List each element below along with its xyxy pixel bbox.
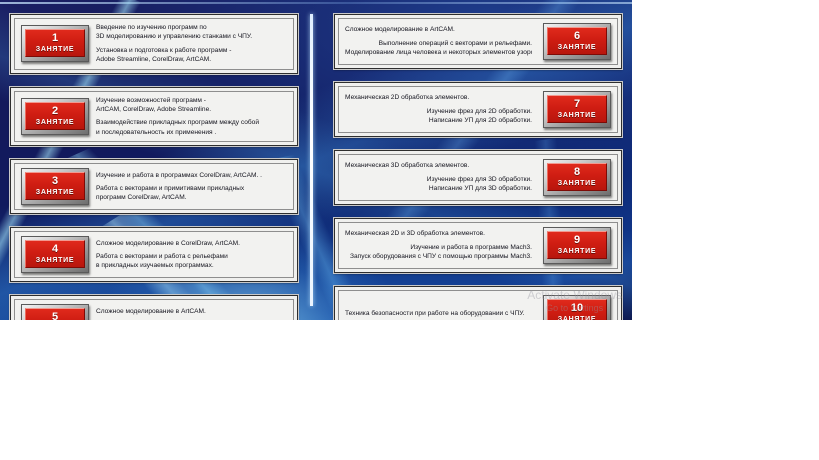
- lesson-card[interactable]: 5ЗАНЯТИЕСложное моделирование в ArtCAM.В…: [10, 295, 298, 320]
- lesson-button-face: 10ЗАНЯТИЕ: [547, 299, 607, 320]
- lesson-description-line: Изучение фрез для 3D обработки.: [345, 175, 532, 184]
- lesson-description: Сложное моделирование в ArtCAM.Выполнени…: [345, 25, 536, 57]
- lesson-description-line: Изучение фрез для 2D обработки.: [345, 107, 532, 116]
- lesson-number-button[interactable]: 1ЗАНЯТИЕ: [21, 25, 89, 62]
- lesson-description-line: Работа с векторами и работа с рельефами: [96, 252, 287, 261]
- lesson-number: 4: [52, 244, 58, 255]
- lesson-card-inner: 3ЗАНЯТИЕИзучение и работа в программах C…: [14, 163, 294, 210]
- top-highlight-rule: [0, 2, 632, 4]
- lesson-card-inner: 4ЗАНЯТИЕСложное моделирование в CorelDra…: [14, 231, 294, 278]
- lesson-description-line: Изучение и работа в программах CorelDraw…: [96, 171, 287, 180]
- lesson-word-label: ЗАНЯТИЕ: [558, 44, 596, 51]
- lesson-description-line: Сложное моделирование в ArtCAM.: [345, 25, 532, 34]
- lesson-description-line: Запуск оборудования с ЧПУ с помощью прог…: [345, 252, 532, 261]
- lesson-card[interactable]: 3ЗАНЯТИЕИзучение и работа в программах C…: [10, 159, 298, 214]
- lesson-number: 10: [571, 303, 583, 314]
- lesson-description: Сложное моделирование в ArtCAM.Выполнени…: [96, 307, 287, 320]
- lesson-card[interactable]: 1ЗАНЯТИЕВведение по изучению программ по…: [10, 14, 298, 74]
- lesson-description: Техника безопасности при работе на обору…: [345, 309, 536, 318]
- lesson-description-line: 3D моделированию и управлению станками с…: [96, 32, 287, 41]
- lesson-number-button[interactable]: 2ЗАНЯТИЕ: [21, 98, 89, 135]
- lesson-description-line: Техника безопасности при работе на обору…: [345, 309, 532, 318]
- lesson-description-line: Моделирование лица человека и некоторых …: [345, 48, 532, 57]
- lesson-word-label: ЗАНЯТИЕ: [36, 189, 74, 196]
- lesson-description-line: Сложное моделирование в CorelDraw, ArtCA…: [96, 239, 287, 248]
- lesson-description-line: ArtCAM, CorelDraw, Adobe Streamline.: [96, 105, 287, 114]
- lesson-description: Механическая 2D и 3D обработка элементов…: [345, 229, 536, 261]
- lesson-description-line: Adobe Streamline, CorelDraw, ArtCAM.: [96, 55, 287, 64]
- lesson-card-inner: Механическая 2D и 3D обработка элементов…: [338, 222, 618, 269]
- lesson-number: 9: [574, 235, 580, 246]
- lesson-word-label: ЗАНЯТИЕ: [558, 316, 596, 320]
- lesson-button-face: 9ЗАНЯТИЕ: [547, 231, 607, 259]
- lesson-number: 7: [574, 99, 580, 110]
- lesson-card[interactable]: Механическая 2D обработка элементов.Изуч…: [334, 82, 622, 137]
- lesson-card[interactable]: Механическая 2D и 3D обработка элементов…: [334, 218, 622, 273]
- lesson-number-button[interactable]: 4ЗАНЯТИЕ: [21, 236, 89, 273]
- lesson-card-inner: Механическая 2D обработка элементов.Изуч…: [338, 86, 618, 133]
- lesson-button-face: 5ЗАНЯТИЕ: [25, 308, 85, 320]
- lesson-card[interactable]: 4ЗАНЯТИЕСложное моделирование в CorelDra…: [10, 227, 298, 282]
- lesson-button-face: 6ЗАНЯТИЕ: [547, 27, 607, 55]
- lesson-number-button[interactable]: 10ЗАНЯТИЕ: [543, 295, 611, 320]
- lesson-description-line: Механическая 2D и 3D обработка элементов…: [345, 229, 532, 238]
- course-curriculum-slide: 1ЗАНЯТИЕВведение по изучению программ по…: [0, 0, 632, 320]
- lesson-description: Изучение и работа в программах CorelDraw…: [96, 171, 287, 203]
- lesson-card-inner: 1ЗАНЯТИЕВведение по изучению программ по…: [14, 18, 294, 70]
- lesson-number: 1: [52, 33, 58, 44]
- lesson-card[interactable]: Сложное моделирование в ArtCAM.Выполнени…: [334, 14, 622, 69]
- lesson-description-line: программ CorelDraw, ArtCAM.: [96, 193, 287, 202]
- lesson-description-line: Написание УП для 3D обработки.: [345, 184, 532, 193]
- lesson-card[interactable]: Механическая 3D обработка элементов.Изуч…: [334, 150, 622, 205]
- lesson-button-face: 2ЗАНЯТИЕ: [25, 102, 85, 130]
- lesson-button-face: 1ЗАНЯТИЕ: [25, 29, 85, 57]
- column-divider: [310, 14, 313, 306]
- lesson-description: Механическая 2D обработка элементов.Изуч…: [345, 93, 536, 125]
- lesson-number-button[interactable]: 3ЗАНЯТИЕ: [21, 168, 89, 205]
- lesson-number: 8: [574, 167, 580, 178]
- lesson-description-line: Введение по изучению программ по: [96, 23, 287, 32]
- lesson-description-line: Механическая 2D обработка элементов.: [345, 93, 532, 102]
- lesson-word-label: ЗАНЯТИЕ: [558, 248, 596, 255]
- lesson-description: Изучение возможностей программ -ArtCAM, …: [96, 96, 287, 138]
- lesson-card-inner: Техника безопасности при работе на обору…: [338, 290, 618, 320]
- lesson-description-line: Изучение и работа в программе Mach3.: [345, 243, 532, 252]
- lesson-word-label: ЗАНЯТИЕ: [36, 119, 74, 126]
- lesson-description: Введение по изучению программ по3D модел…: [96, 23, 287, 65]
- lesson-number-button[interactable]: 6ЗАНЯТИЕ: [543, 23, 611, 60]
- lesson-description-line: Работа с векторами и примитивами приклад…: [96, 184, 287, 193]
- lesson-description-line: Сложное моделирование в ArtCAM.: [96, 307, 287, 316]
- lesson-button-face: 4ЗАНЯТИЕ: [25, 240, 85, 268]
- lesson-number: 6: [574, 31, 580, 42]
- lesson-number-button[interactable]: 5ЗАНЯТИЕ: [21, 304, 89, 320]
- lesson-number: 5: [52, 312, 58, 320]
- lesson-column-left: 1ЗАНЯТИЕВведение по изучению программ по…: [10, 14, 298, 320]
- lesson-card[interactable]: Техника безопасности при работе на обору…: [334, 286, 622, 320]
- lesson-word-label: ЗАНЯТИЕ: [558, 180, 596, 187]
- lesson-description: Сложное моделирование в CorelDraw, ArtCA…: [96, 239, 287, 271]
- lesson-description-line: Написание УП для 2D обработки.: [345, 116, 532, 125]
- lesson-number: 3: [52, 176, 58, 187]
- lesson-card[interactable]: 2ЗАНЯТИЕИзучение возможностей программ -…: [10, 87, 298, 147]
- lesson-card-inner: 2ЗАНЯТИЕИзучение возможностей программ -…: [14, 91, 294, 143]
- lesson-column-right: Сложное моделирование в ArtCAM.Выполнени…: [334, 14, 622, 320]
- lesson-description-line: Механическая 3D обработка элементов.: [345, 161, 532, 170]
- lesson-description-line: Взаимодействие прикладных программ между…: [96, 118, 287, 127]
- lesson-number-button[interactable]: 9ЗАНЯТИЕ: [543, 227, 611, 264]
- lesson-number-button[interactable]: 8ЗАНЯТИЕ: [543, 159, 611, 196]
- lesson-description-line: Установка и подготовка к работе программ…: [96, 46, 287, 55]
- lesson-description-line: Выполнение операций с векторами и рельеф…: [345, 39, 532, 48]
- lesson-button-face: 7ЗАНЯТИЕ: [547, 95, 607, 123]
- lesson-card-inner: 5ЗАНЯТИЕСложное моделирование в ArtCAM.В…: [14, 299, 294, 320]
- lesson-description-line: Изучение возможностей программ -: [96, 96, 287, 105]
- lesson-description: Механическая 3D обработка элементов.Изуч…: [345, 161, 536, 193]
- lesson-number-button[interactable]: 7ЗАНЯТИЕ: [543, 91, 611, 128]
- lesson-word-label: ЗАНЯТИЕ: [36, 257, 74, 264]
- lesson-button-face: 3ЗАНЯТИЕ: [25, 172, 85, 200]
- lesson-word-label: ЗАНЯТИЕ: [36, 46, 74, 53]
- lesson-number: 2: [52, 106, 58, 117]
- lesson-description-line: и последовательность их применения .: [96, 128, 287, 137]
- lesson-card-inner: Сложное моделирование в ArtCAM.Выполнени…: [338, 18, 618, 65]
- lesson-card-inner: Механическая 3D обработка элементов.Изуч…: [338, 154, 618, 201]
- lesson-description-line: в прикладных изучаемых программах.: [96, 261, 287, 270]
- lesson-button-face: 8ЗАНЯТИЕ: [547, 163, 607, 191]
- lesson-word-label: ЗАНЯТИЕ: [558, 112, 596, 119]
